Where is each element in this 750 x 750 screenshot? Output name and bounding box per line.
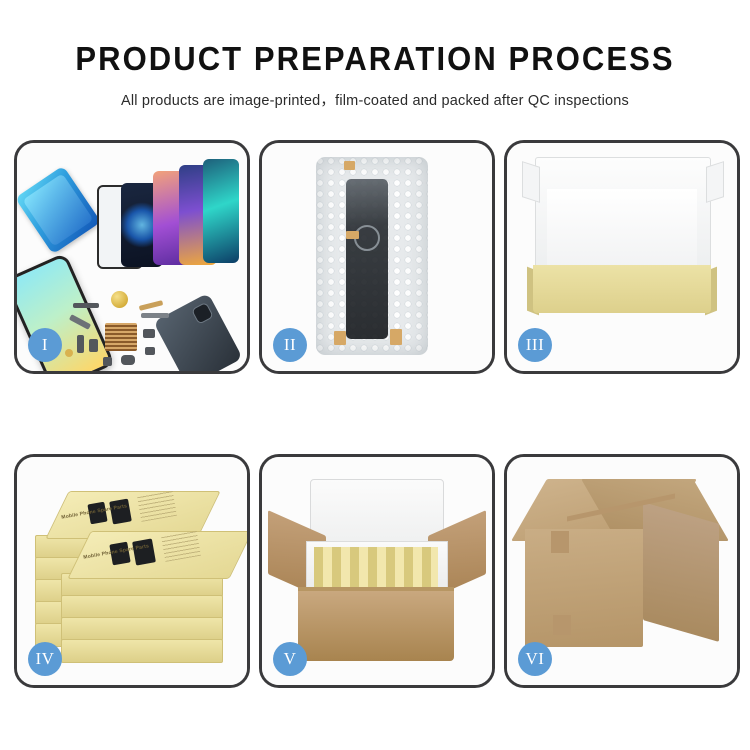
small-part-icon bbox=[143, 329, 155, 338]
stacked-box bbox=[61, 595, 223, 619]
foam-sheet-icon bbox=[547, 189, 697, 273]
tape-strip-icon bbox=[553, 615, 571, 635]
tape-piece-icon bbox=[334, 331, 346, 345]
large-phone-icon bbox=[14, 252, 115, 374]
carton-side-face-icon bbox=[643, 502, 719, 642]
stacked-box bbox=[61, 617, 223, 641]
small-part-icon bbox=[145, 347, 155, 355]
product-process-page: PRODUCT PREPARATION PROCESS All products… bbox=[0, 0, 750, 750]
process-step-4[interactable]: Mobile Phone Spare Parts Mobile Phone Sp… bbox=[14, 454, 250, 688]
wrapped-screen-icon bbox=[346, 179, 388, 339]
step-badge-3: III bbox=[518, 328, 552, 362]
page-header: PRODUCT PREPARATION PROCESS All products… bbox=[0, 0, 750, 110]
vibrator-icon bbox=[65, 349, 73, 357]
box-front-panel-icon bbox=[533, 265, 711, 313]
speaker-coil-icon bbox=[111, 291, 128, 308]
step-badge-1: I bbox=[28, 328, 62, 362]
blue-phone-back-icon bbox=[15, 166, 101, 255]
page-subtitle: All products are image-printed，film-coat… bbox=[0, 89, 750, 110]
process-step-2[interactable]: II bbox=[259, 140, 495, 374]
tape-piece-icon bbox=[390, 329, 402, 345]
tape-strip-icon bbox=[551, 531, 569, 553]
logic-board-icon bbox=[105, 323, 137, 351]
box-stack-icon: Mobile Phone Spare Parts Mobile Phone Sp… bbox=[35, 477, 231, 669]
step-badge-4: IV bbox=[28, 642, 62, 676]
teal-phone-icon bbox=[203, 159, 239, 263]
flex-cable-icon bbox=[139, 300, 163, 311]
tape-piece-icon bbox=[344, 161, 355, 170]
small-part-icon bbox=[103, 357, 112, 366]
page-title: PRODUCT PREPARATION PROCESS bbox=[23, 42, 728, 75]
flex-cable-icon bbox=[141, 313, 169, 318]
step-badge-2: II bbox=[273, 328, 307, 362]
small-part-icon bbox=[77, 335, 84, 353]
process-step-1[interactable]: I bbox=[14, 140, 250, 374]
yellow-boxes-inside-icon bbox=[314, 547, 438, 591]
stacked-box bbox=[61, 639, 223, 663]
small-part-icon bbox=[89, 339, 98, 352]
earpiece-part-icon bbox=[73, 303, 99, 308]
box-screen-graphic bbox=[132, 538, 156, 565]
bubble-wrap-bag-icon bbox=[316, 157, 428, 355]
camera-module-icon bbox=[121, 355, 135, 365]
carton-front-face-icon bbox=[525, 529, 643, 647]
tape-piece-icon bbox=[346, 231, 359, 239]
carton-front-panel-icon bbox=[298, 591, 454, 661]
process-step-5[interactable]: V bbox=[259, 454, 495, 688]
step-badge-5: V bbox=[273, 642, 307, 676]
step-badge-6: VI bbox=[518, 642, 552, 676]
phone-rear-housing-icon bbox=[153, 293, 242, 374]
process-step-6[interactable]: VI bbox=[504, 454, 740, 688]
process-step-3[interactable]: III bbox=[504, 140, 740, 374]
process-grid: I II bbox=[14, 140, 736, 688]
